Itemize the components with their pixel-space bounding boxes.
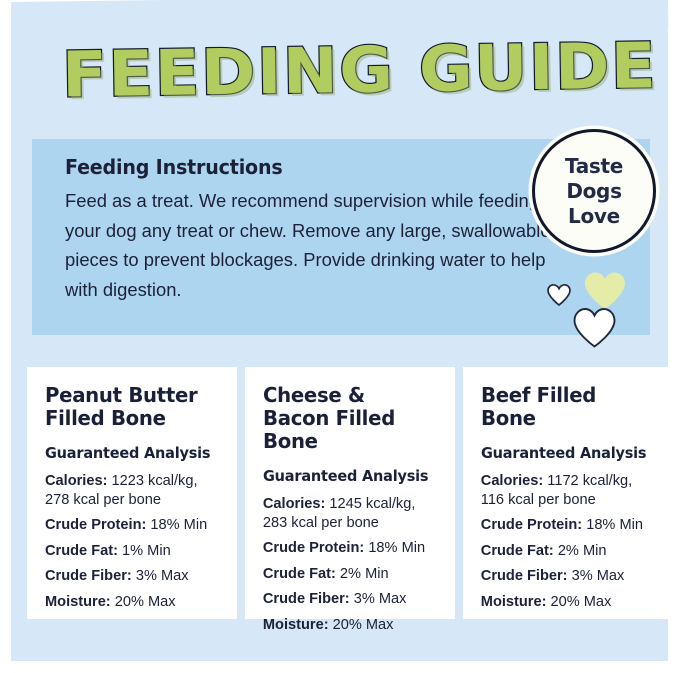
product-title: Cheese & Bacon Filled Bone (263, 384, 432, 453)
spec-row: Moisture: 20% Max (481, 593, 657, 612)
page-title: FEEDING GUIDE (61, 31, 655, 110)
spec-row: Crude Protein: 18% Min (45, 516, 221, 535)
spec-row: Moisture: 20% Max (45, 593, 221, 612)
product-cards: Peanut Butter Filled Bone Guaranteed Ana… (27, 367, 652, 619)
spec-label: Moisture: (263, 617, 329, 633)
badge-line-2: Dogs (566, 179, 621, 204)
spec-label: Calories: (45, 473, 107, 489)
spec-row: Calories: 1172 kcal/kg, 116 kcal per bon… (481, 472, 657, 509)
spec-value: 3% Max (136, 568, 189, 584)
spec-label: Calories: (481, 473, 543, 489)
spec-value: 18% Min (368, 540, 425, 556)
spec-row: Crude Fiber: 3% Max (481, 567, 657, 586)
heart-icon (546, 283, 572, 307)
product-title: Peanut Butter Filled Bone (45, 384, 214, 430)
spec-value: 3% Max (354, 591, 407, 607)
spec-row: Calories: 1223 kcal/kg, 278 kcal per bon… (45, 472, 221, 509)
spec-row: Calories: 1245 kcal/kg, 283 kcal per bon… (263, 495, 439, 532)
spec-label: Crude Fiber: (481, 568, 568, 584)
spec-label: Crude Fiber: (45, 568, 132, 584)
badge-line-1: Taste (565, 154, 623, 179)
spec-row: Crude Fiber: 3% Max (263, 590, 439, 609)
spec-value: 2% Min (340, 566, 389, 582)
spec-row: Crude Protein: 18% Min (481, 516, 657, 535)
feeding-guide-poster: FEEDING GUIDE Feeding Instructions Feed … (0, 0, 679, 673)
spec-label: Crude Protein: (45, 517, 146, 533)
spec-label: Crude Protein: (481, 517, 582, 533)
spec-label: Moisture: (481, 594, 547, 610)
spec-value: 20% Max (333, 617, 394, 633)
spec-label: Moisture: (45, 594, 111, 610)
spec-value: 1% Min (122, 543, 171, 559)
spec-label: Crude Fiber: (263, 591, 350, 607)
spec-row: Crude Protein: 18% Min (263, 539, 439, 558)
spec-row: Moisture: 20% Max (263, 616, 439, 635)
spec-value: 3% Max (572, 568, 625, 584)
spec-row: Crude Fiber: 3% Max (45, 567, 221, 586)
product-card: Beef Filled Bone Guaranteed Analysis Cal… (463, 367, 673, 619)
heart-icon (572, 307, 617, 349)
spec-label: Crude Protein: (263, 540, 364, 556)
feeding-instructions-heading: Feeding Instructions (65, 155, 283, 179)
spec-value: 2% Min (558, 543, 607, 559)
product-title: Beef Filled Bone (481, 384, 650, 430)
taste-dogs-love-badge: Taste Dogs Love (532, 129, 656, 253)
spec-row: Crude Fat: 2% Min (481, 542, 657, 561)
spec-label: Crude Fat: (263, 566, 336, 582)
spec-row: Crude Fat: 2% Min (263, 565, 439, 584)
guaranteed-analysis-heading: Guaranteed Analysis (481, 444, 646, 462)
badge-line-3: Love (568, 204, 620, 229)
spec-value: 20% Max (115, 594, 176, 610)
heart-icon (583, 271, 627, 311)
spec-label: Crude Fat: (45, 543, 118, 559)
spec-label: Crude Fat: (481, 543, 554, 559)
page-title-wrapper: FEEDING GUIDE (61, 32, 632, 117)
spec-value: 18% Min (150, 517, 207, 533)
guaranteed-analysis-heading: Guaranteed Analysis (45, 444, 210, 462)
product-card: Cheese & Bacon Filled Bone Guaranteed An… (245, 367, 455, 619)
product-card: Peanut Butter Filled Bone Guaranteed Ana… (27, 367, 237, 619)
spec-value: 20% Max (551, 594, 612, 610)
spec-value: 18% Min (586, 517, 643, 533)
guaranteed-analysis-heading: Guaranteed Analysis (263, 467, 428, 485)
spec-row: Crude Fat: 1% Min (45, 542, 221, 561)
feeding-instructions-body: Feed as a treat. We recommend supervisio… (65, 186, 565, 304)
spec-label: Calories: (263, 496, 325, 512)
